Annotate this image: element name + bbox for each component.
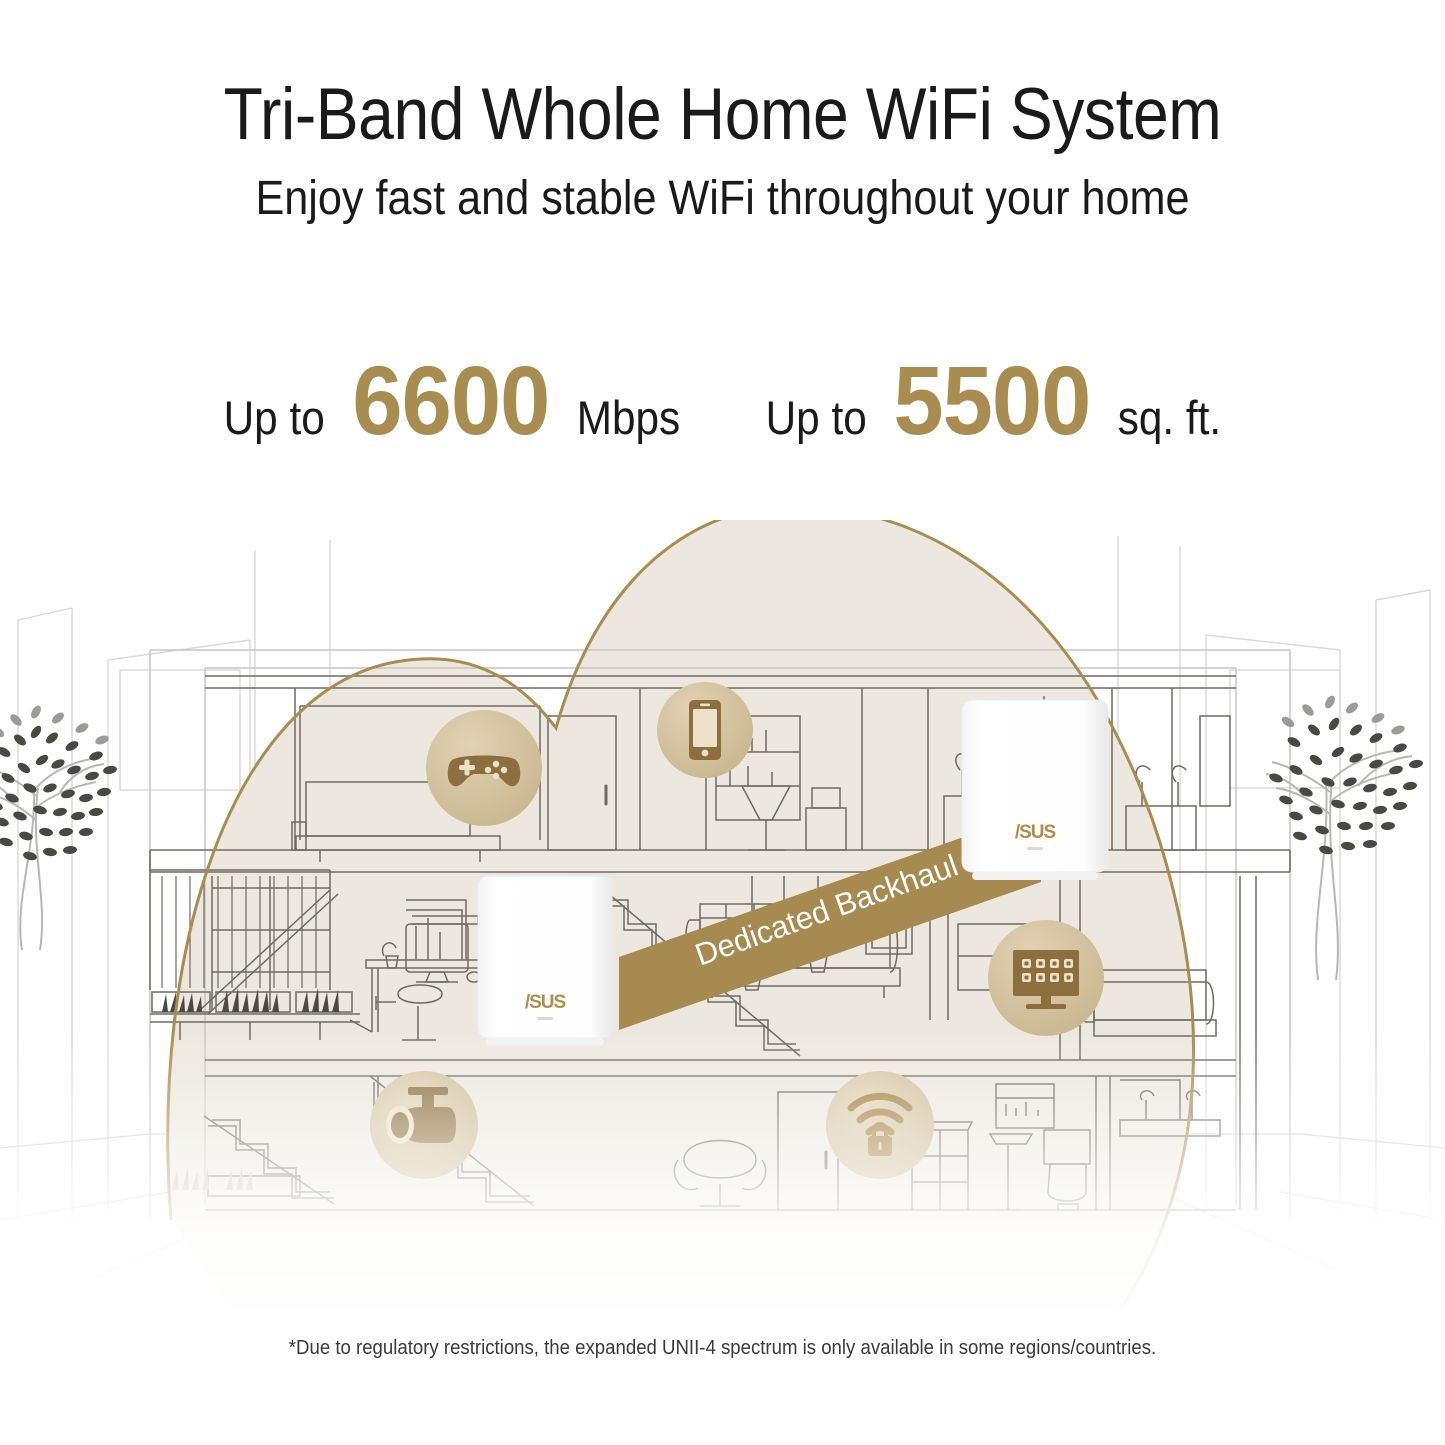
spec-coverage-unit: sq. ft.: [1117, 390, 1220, 445]
spec-speed-unit: Mbps: [576, 390, 679, 445]
spec-row: Up to 6600 Mbps Up to 5500 sq. ft.: [0, 352, 1445, 449]
footnote: *Due to regulatory restrictions, the exp…: [51, 1337, 1395, 1360]
spec-coverage-value: 5500: [893, 352, 1090, 449]
spec-speed: Up to 6600 Mbps: [218, 352, 685, 449]
security-camera-icon: [370, 1071, 478, 1179]
spec-speed-value: 6600: [352, 352, 549, 449]
wifi-lock-icon: [826, 1071, 934, 1179]
page-subtitle: Enjoy fast and stable WiFi throughout yo…: [72, 153, 1373, 226]
router-node-upper: /SUS: [962, 700, 1108, 880]
router-brand-upper: /SUS: [1015, 822, 1056, 843]
tree-right-leaves-light: [1280, 694, 1406, 736]
router-brand-lower: /SUS: [525, 992, 566, 1013]
smart-tv-icon: [988, 920, 1104, 1036]
page-title: Tri-Band Whole Home WiFi System: [87, 0, 1359, 153]
spec-coverage-label: Up to: [765, 390, 866, 445]
tree-right-leaves: [1268, 716, 1424, 856]
spec-coverage: Up to 5500 sq. ft.: [760, 352, 1227, 449]
spec-speed-label: Up to: [224, 390, 325, 445]
house-illustration: Dedicated Backhaul /SUS /SUS: [0, 520, 1445, 1340]
header-block: Tri-Band Whole Home WiFi System Enjoy fa…: [0, 0, 1445, 226]
smartphone-icon: [657, 682, 753, 778]
router-node-lower: /SUS: [478, 876, 612, 1046]
gamepad-icon: [426, 710, 542, 826]
